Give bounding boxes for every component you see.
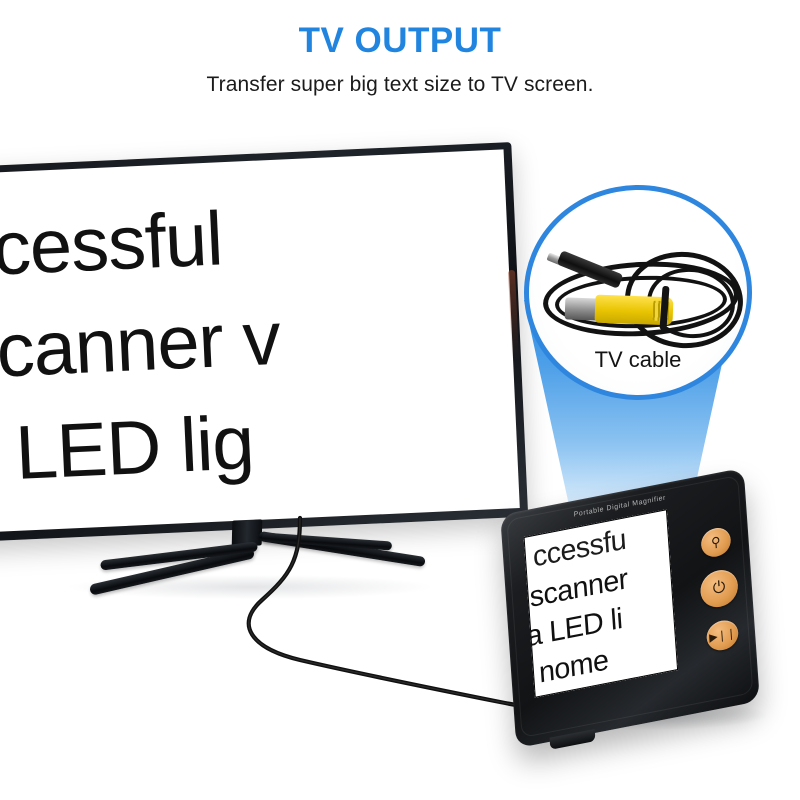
header-block: TV OUTPUT Transfer super big text size t… [0, 0, 800, 97]
power-button[interactable]: ⏻ [699, 567, 739, 610]
handheld-magnifier-device: Portable Digital Magnifier ccessfu scann… [500, 468, 760, 748]
zoom-button[interactable]: ⚲ [700, 525, 731, 559]
tv-screen-line: ata LED lig [0, 380, 519, 511]
play-pause-button[interactable]: ▶❘❘ [706, 618, 739, 653]
callout-label: TV cable [529, 347, 747, 373]
tv-cable-callout: TV cable [524, 185, 752, 400]
device-stand-foot [550, 729, 596, 750]
page-title: TV OUTPUT [0, 22, 800, 61]
device-body: Portable Digital Magnifier ccessfu scann… [500, 468, 760, 748]
device-screen: ccessfu scanner a LED li nome [524, 509, 679, 698]
product-feature-image: TV OUTPUT Transfer super big text size t… [0, 0, 800, 800]
television: successful e scanner v ata LED lig [0, 142, 528, 543]
tv-bezel: successful e scanner v ata LED lig [0, 142, 528, 543]
tv-screen: successful e scanner v ata LED lig [0, 149, 520, 533]
page-subtitle: Transfer super big text size to TV scree… [0, 73, 800, 97]
